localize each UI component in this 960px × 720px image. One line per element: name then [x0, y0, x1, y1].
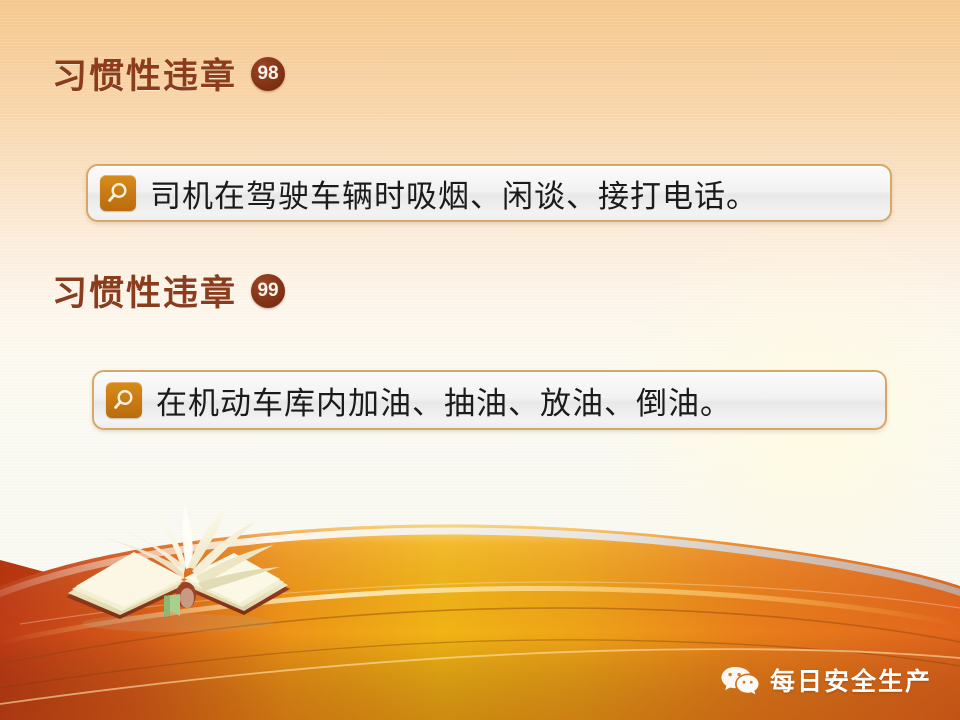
wechat-icon: [720, 664, 760, 696]
content-box-2[interactable]: 在机动车库内加油、抽油、放油、倒油。: [92, 370, 887, 430]
magnifier-icon: [100, 175, 136, 211]
section-heading-1: 习惯性违章 98: [52, 48, 285, 99]
heading-label-2: 习惯性违章: [52, 265, 237, 316]
content-text-2: 在机动车库内加油、抽油、放油、倒油。: [156, 378, 732, 423]
content-text-1: 司机在驾驶车辆时吸烟、闲谈、接打电话。: [150, 171, 758, 216]
open-book-illustration: [58, 503, 298, 643]
footer-label: 每日安全生产: [770, 662, 932, 698]
footer-watermark: 每日安全生产: [720, 662, 932, 698]
heading-badge-1: 98: [251, 57, 285, 91]
slide-canvas: 习惯性违章 98 司机在驾驶车辆时吸烟、闲谈、接打电话。 习惯性违章 99 在机…: [0, 0, 960, 720]
heading-badge-2: 99: [251, 274, 285, 308]
content-box-1[interactable]: 司机在驾驶车辆时吸烟、闲谈、接打电话。: [86, 164, 892, 222]
section-heading-2: 习惯性违章 99: [52, 265, 285, 316]
heading-label-1: 习惯性违章: [52, 48, 237, 99]
magnifier-icon: [106, 382, 142, 418]
